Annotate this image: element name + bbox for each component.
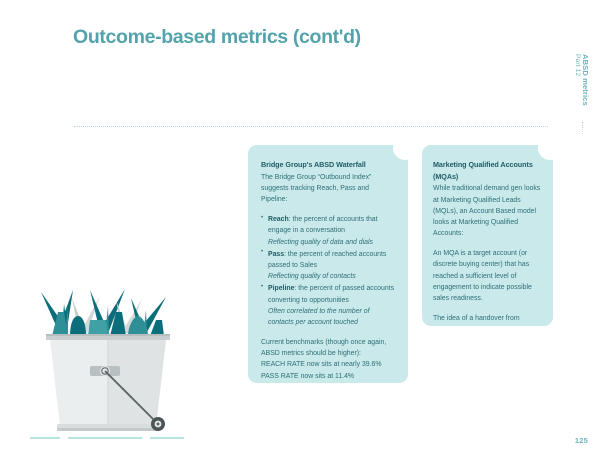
bullet-term: Pass: [268, 251, 284, 258]
side-label-part: Part 12: [574, 54, 581, 76]
list-item: Reach: the percent of accounts that enga…: [261, 214, 396, 248]
benchmark-pipeline: PIPELINE RATE now sits at 73.5% passing …: [261, 382, 396, 383]
bullet-note: Often correlated to the number of contac…: [268, 308, 370, 326]
panel-waterfall-heading: Bridge Group's ABSD Waterfall: [261, 159, 396, 171]
panel-mqa-paragraph-2: An MQA is a target account (or discrete …: [433, 248, 543, 304]
benchmarks-intro: Current benchmarks (though once again, A…: [261, 337, 396, 359]
panel-waterfall-intro: The Bridge Group “Outbound Index” sugges…: [261, 172, 396, 206]
page-number: 125: [575, 436, 588, 445]
header-divider: [74, 126, 548, 128]
bullet-note: Reflecting quality of data and dials: [268, 239, 373, 246]
side-divider: [582, 122, 584, 134]
bullet-term: Reach: [268, 216, 289, 223]
benchmark-reach: REACH RATE now sits at nearly 39.6%: [261, 359, 396, 370]
bullet-text: : the percent of reached accounts passed…: [268, 251, 386, 269]
panel-waterfall-bullet-list: Reach: the percent of accounts that enga…: [261, 214, 396, 328]
panel-mqa-heading: Marketing Qualified Accounts (MQAs): [433, 159, 543, 182]
panel-marketing-qualified-accounts: Marketing Qualified Accounts (MQAs) Whil…: [422, 145, 553, 326]
panel-mqa-intro: While traditional demand gen looks at Ma…: [433, 183, 543, 239]
list-item: Pipeline: the percent of passed accounts…: [261, 283, 396, 328]
bucket-with-plants-illustration: [24, 276, 190, 448]
side-label-section: ABSD metrics: [581, 54, 590, 106]
panel-mqa-paragraph-3: The idea of a handover from Marketing to…: [433, 313, 543, 326]
page-title: Outcome-based metrics (cont'd): [73, 26, 361, 49]
bullet-term: Pipeline: [268, 285, 294, 292]
bullet-note: Reflecting quality of contacts: [268, 273, 356, 280]
list-item: Pass: the percent of reached accounts pa…: [261, 249, 396, 283]
panel-absd-waterfall: Bridge Group's ABSD Waterfall The Bridge…: [248, 145, 408, 383]
benchmark-pass: PASS RATE now sits at 11.4%: [261, 371, 396, 382]
